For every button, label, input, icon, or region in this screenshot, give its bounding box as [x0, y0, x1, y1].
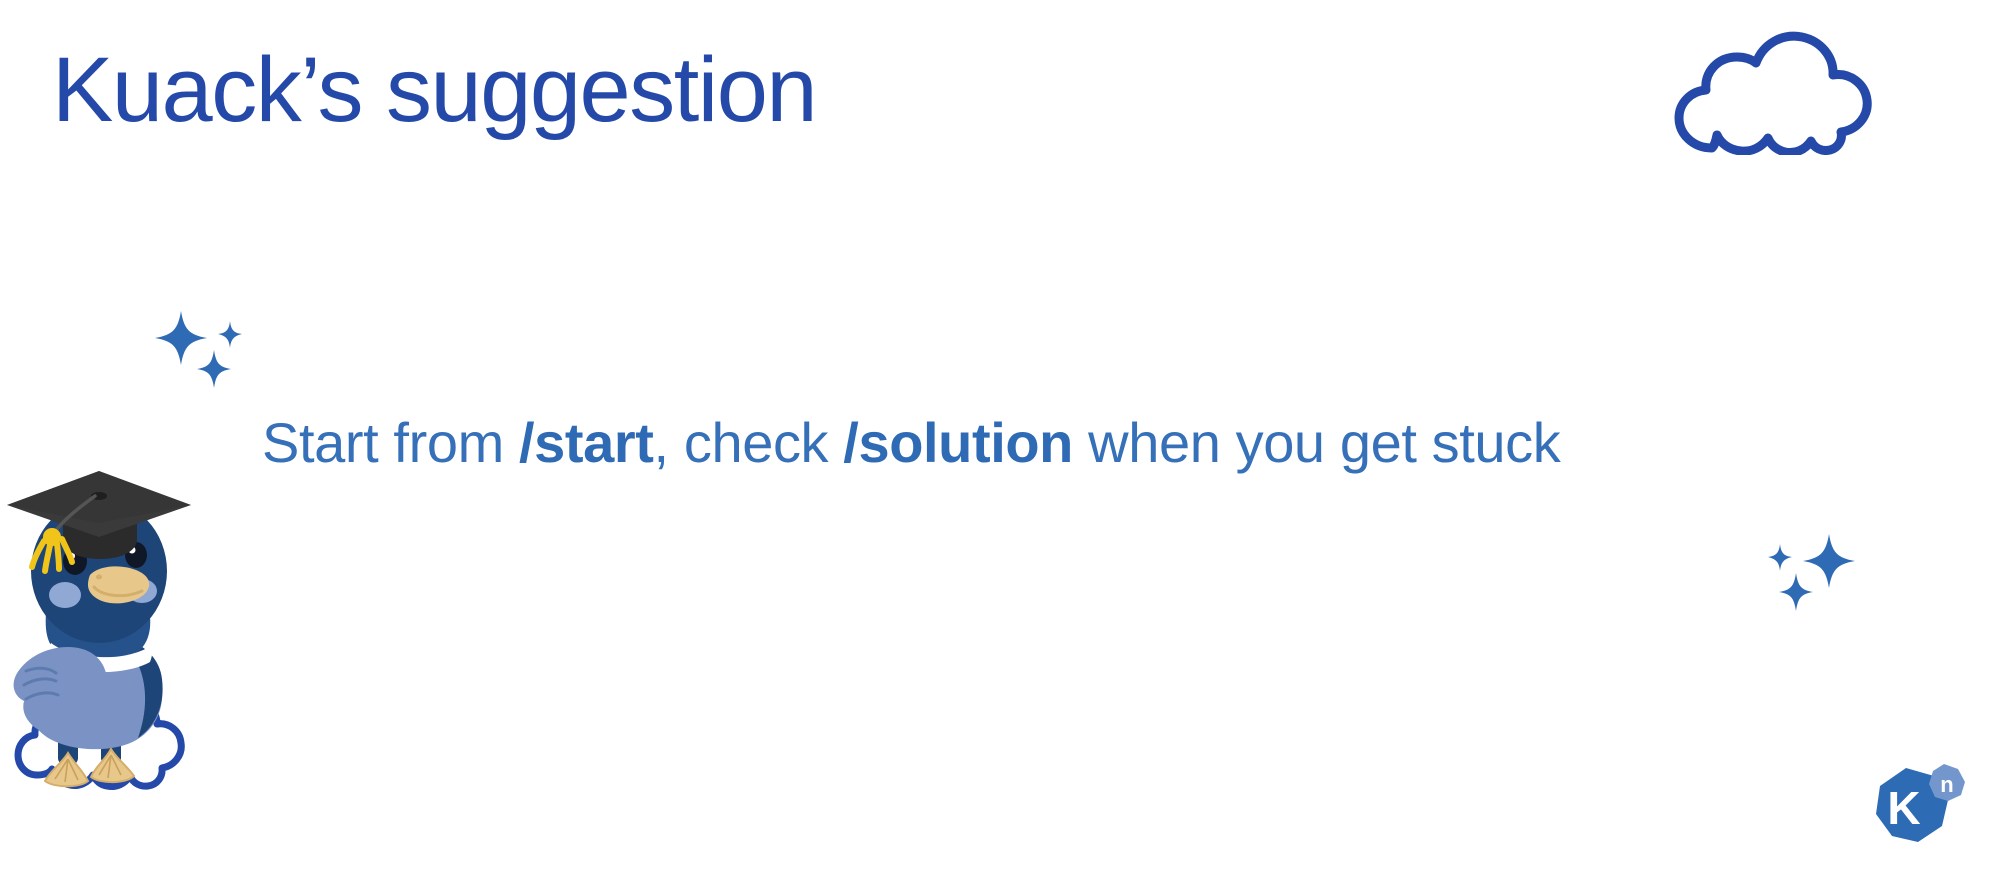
sparkle-large [155, 311, 207, 365]
kuack-duck-mascot [2, 463, 217, 838]
sparkle-medium [1779, 573, 1813, 611]
cloud-outline-icon [1665, 30, 1880, 155]
beak-nostril [96, 575, 102, 580]
sparkles-icon [1762, 528, 1862, 613]
logo-primary-letter: K [1887, 782, 1920, 834]
body-text-lead: Start from [262, 411, 519, 474]
sparkle-cluster-left [148, 305, 248, 390]
sparkle-small [1768, 544, 1792, 571]
slide-root: Kuack’s suggestion Start from /start, ch… [0, 0, 1999, 878]
cloud-outline-decoration [1665, 30, 1880, 155]
body-text-line: Start from /start, check /solution when … [262, 415, 1560, 471]
left-cheek [49, 582, 81, 608]
sparkle-small [218, 321, 242, 348]
body-text-tail: when you get stuck [1073, 411, 1560, 474]
command-start: /start [519, 411, 654, 474]
body-text-middle: , check [654, 411, 844, 474]
command-solution: /solution [843, 411, 1073, 474]
kn-logo: K n [1862, 762, 1970, 858]
sparkles-icon [148, 305, 248, 390]
sparkle-large [1803, 534, 1855, 588]
duck-mascot-illustration [2, 463, 217, 838]
sparkle-cluster-right [1762, 528, 1862, 613]
page-title: Kuack’s suggestion [52, 44, 816, 136]
logo-badge-letter: n [1940, 772, 1953, 797]
kn-logo-icon: K n [1862, 762, 1970, 858]
sparkle-medium [197, 350, 231, 388]
